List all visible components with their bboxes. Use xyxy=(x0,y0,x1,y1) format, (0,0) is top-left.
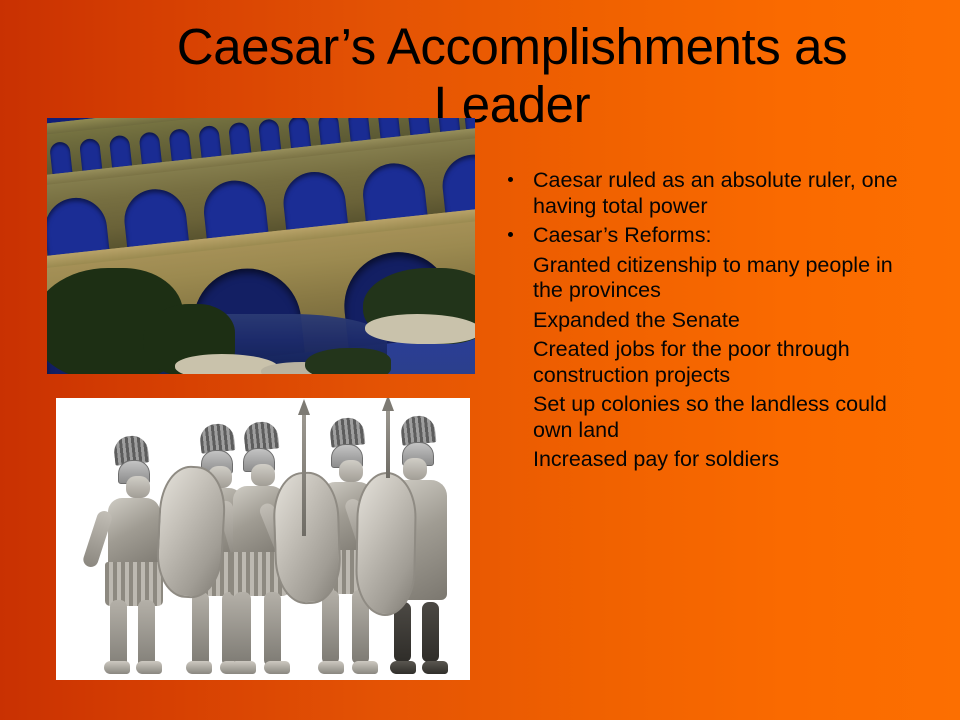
helmet-crest xyxy=(243,420,280,451)
foot xyxy=(230,661,256,674)
helmet-crest xyxy=(329,416,366,447)
bullet-item: Increased pay for soldiers xyxy=(500,447,920,473)
head xyxy=(251,464,275,486)
leg xyxy=(234,592,251,666)
arch-small xyxy=(49,141,72,175)
bullet-dot-icon xyxy=(508,177,513,182)
leg xyxy=(422,602,439,662)
armor-skirt xyxy=(105,562,163,606)
arch-small xyxy=(258,118,281,152)
bullet-text: Created jobs for the poor through constr… xyxy=(533,337,850,387)
foot xyxy=(264,661,290,674)
bullet-text: Caesar’s Reforms: xyxy=(533,223,711,247)
bullet-text: Set up colonies so the landless could ow… xyxy=(533,392,887,442)
leg xyxy=(192,592,209,666)
foot xyxy=(104,661,130,674)
arch-small xyxy=(168,128,191,162)
spear xyxy=(302,412,306,536)
head xyxy=(339,460,363,482)
arch-small xyxy=(228,122,251,156)
slide-body-content: Caesar ruled as an absolute ruler, one h… xyxy=(500,168,920,477)
foot xyxy=(422,661,448,674)
bullet-item: Granted citizenship to many people in th… xyxy=(500,253,920,304)
arch-small xyxy=(79,138,102,172)
presentation-slide: Caesar’s Accomplishments as Leader xyxy=(0,0,960,720)
oval-shield xyxy=(272,471,343,605)
spear xyxy=(386,408,390,478)
arch-small xyxy=(139,131,162,165)
roman-aqueduct-photo xyxy=(47,118,475,374)
bullet-text: Caesar ruled as an absolute ruler, one h… xyxy=(533,168,898,218)
head xyxy=(126,476,150,498)
foot xyxy=(390,661,416,674)
roman-soldiers-relief-photo xyxy=(56,398,470,680)
bullet-text: Granted citizenship to many people in th… xyxy=(533,253,893,303)
bullet-item: Caesar ruled as an absolute ruler, one h… xyxy=(500,168,920,219)
arch-small xyxy=(318,118,341,146)
arch-small xyxy=(109,135,132,169)
bullet-item: Expanded the Senate xyxy=(500,308,920,334)
aqueduct-vegetation xyxy=(305,348,391,374)
slide-title: Caesar’s Accomplishments as Leader xyxy=(108,18,916,134)
bullet-text: Increased pay for soldiers xyxy=(533,447,779,471)
arch-small xyxy=(198,125,221,159)
arch-small xyxy=(288,118,311,149)
foot xyxy=(136,661,162,674)
foot xyxy=(318,661,344,674)
leg xyxy=(322,590,339,664)
foot xyxy=(186,661,212,674)
bullet-item: Caesar’s Reforms: xyxy=(500,223,920,249)
helmet-crest xyxy=(400,414,437,445)
leg xyxy=(264,592,281,666)
bullet-dot-icon xyxy=(508,232,513,237)
bullet-text: Expanded the Senate xyxy=(533,308,740,332)
oval-shield xyxy=(355,471,418,616)
bullet-item: Created jobs for the poor through constr… xyxy=(500,337,920,388)
foot xyxy=(352,661,378,674)
aqueduct-rocks xyxy=(365,314,475,344)
head xyxy=(403,458,427,480)
bullet-item: Set up colonies so the landless could ow… xyxy=(500,392,920,443)
torso-armor xyxy=(108,498,160,570)
